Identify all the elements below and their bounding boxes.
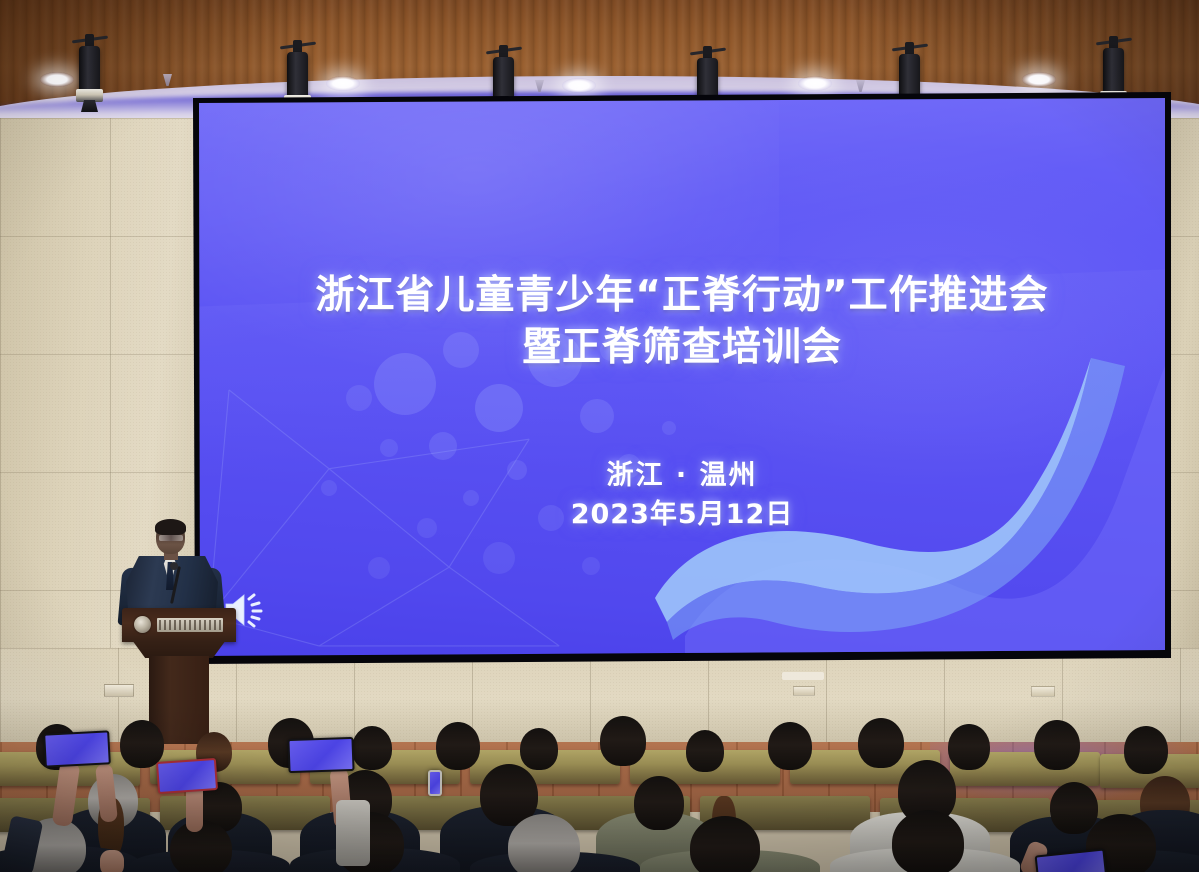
recessed-downlight-icon [562, 78, 596, 93]
audience-arm [336, 800, 370, 866]
audience-head [508, 814, 580, 872]
audience-head [858, 718, 904, 768]
bokeh-circle [582, 557, 600, 575]
audience-head [1124, 726, 1168, 774]
audience-head [120, 720, 164, 768]
screen-title-line2: 暨正脊筛查培训会 [199, 322, 1165, 374]
wall-fixture [782, 672, 824, 680]
bokeh-circle [380, 439, 398, 457]
institution-emblem [134, 616, 151, 633]
screen-subtitle: 浙江 · 温州 2023年5月12日 [199, 456, 1165, 534]
wall-outlet-plate [793, 686, 815, 696]
audience-head [352, 726, 392, 770]
bokeh-circle [483, 542, 515, 574]
podium-nameplate [157, 618, 223, 632]
audience-head [948, 724, 990, 770]
audience-hand [100, 850, 124, 872]
audience-phone [287, 737, 354, 773]
screen-title-line1: 浙江省儿童青少年“正脊行动”工作推进会 [199, 270, 1165, 322]
bokeh-circle [580, 399, 614, 433]
recessed-downlight-icon [326, 76, 360, 91]
recessed-downlight-icon [40, 72, 74, 87]
audience-head [690, 816, 760, 872]
screen-subtitle-location: 浙江 · 温州 [199, 456, 1165, 495]
bokeh-circle [346, 385, 372, 411]
recessed-downlight-icon [1022, 72, 1056, 87]
audience-head [892, 810, 964, 872]
audience-head [1050, 782, 1098, 834]
recessed-downlight-icon [798, 76, 832, 91]
eyeglasses-icon [159, 535, 183, 541]
audience-head [436, 722, 480, 770]
audience-head [686, 730, 724, 772]
bokeh-circle [475, 384, 523, 432]
bokeh-circle [368, 557, 390, 579]
audience-phone [156, 758, 218, 794]
screen-title: 浙江省儿童青少年“正脊行动”工作推进会 暨正脊筛查培训会 [199, 270, 1165, 374]
audience-phone [428, 770, 442, 796]
audience-area [0, 700, 1199, 872]
wall-outlet-plate [1031, 686, 1055, 697]
screen-subtitle-date: 2023年5月12日 [199, 495, 1165, 534]
audience-head [768, 722, 812, 770]
audience-head [634, 776, 684, 830]
audience-head [520, 728, 558, 770]
audience-head [600, 716, 646, 766]
led-presentation-screen[interactable]: 浙江省儿童青少年“正脊行动”工作推进会 暨正脊筛查培训会 浙江 · 温州 202… [199, 98, 1165, 656]
conference-hall-scene: 浙江省儿童青少年“正脊行动”工作推进会 暨正脊筛查培训会 浙江 · 温州 202… [0, 0, 1199, 872]
audience-head [1034, 720, 1080, 770]
audience-phone [43, 730, 111, 767]
stage-spotlight-icon [76, 34, 103, 112]
